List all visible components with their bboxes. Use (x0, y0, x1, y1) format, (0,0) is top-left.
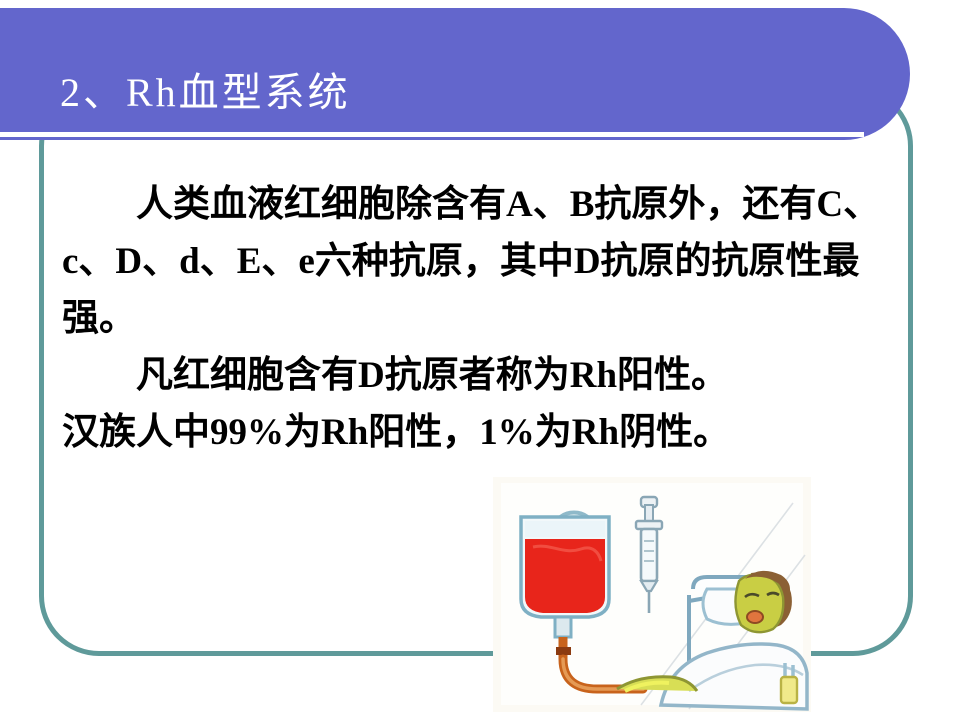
title-underline-rule (0, 132, 864, 137)
slide-canvas: 2、Rh血型系统 人类血液红细胞除含有A、B抗原外，还有C、c、D、d、E、e六… (0, 0, 960, 720)
paragraph-3: 汉族人中99%为Rh阳性，1%为Rh阴性。 (62, 404, 882, 461)
blood-transfusion-illustration (493, 477, 811, 712)
body-text-block: 人类血液红细胞除含有A、B抗原外，还有C、c、D、d、E、e六种抗原，其中D抗原… (62, 176, 882, 461)
paragraph-1: 人类血液红细胞除含有A、B抗原外，还有C、c、D、d、E、e六种抗原，其中D抗原… (62, 176, 882, 347)
paragraph-2: 凡红细胞含有D抗原者称为Rh阳性。 (62, 347, 882, 404)
page-title: 2、Rh血型系统 (60, 68, 351, 118)
